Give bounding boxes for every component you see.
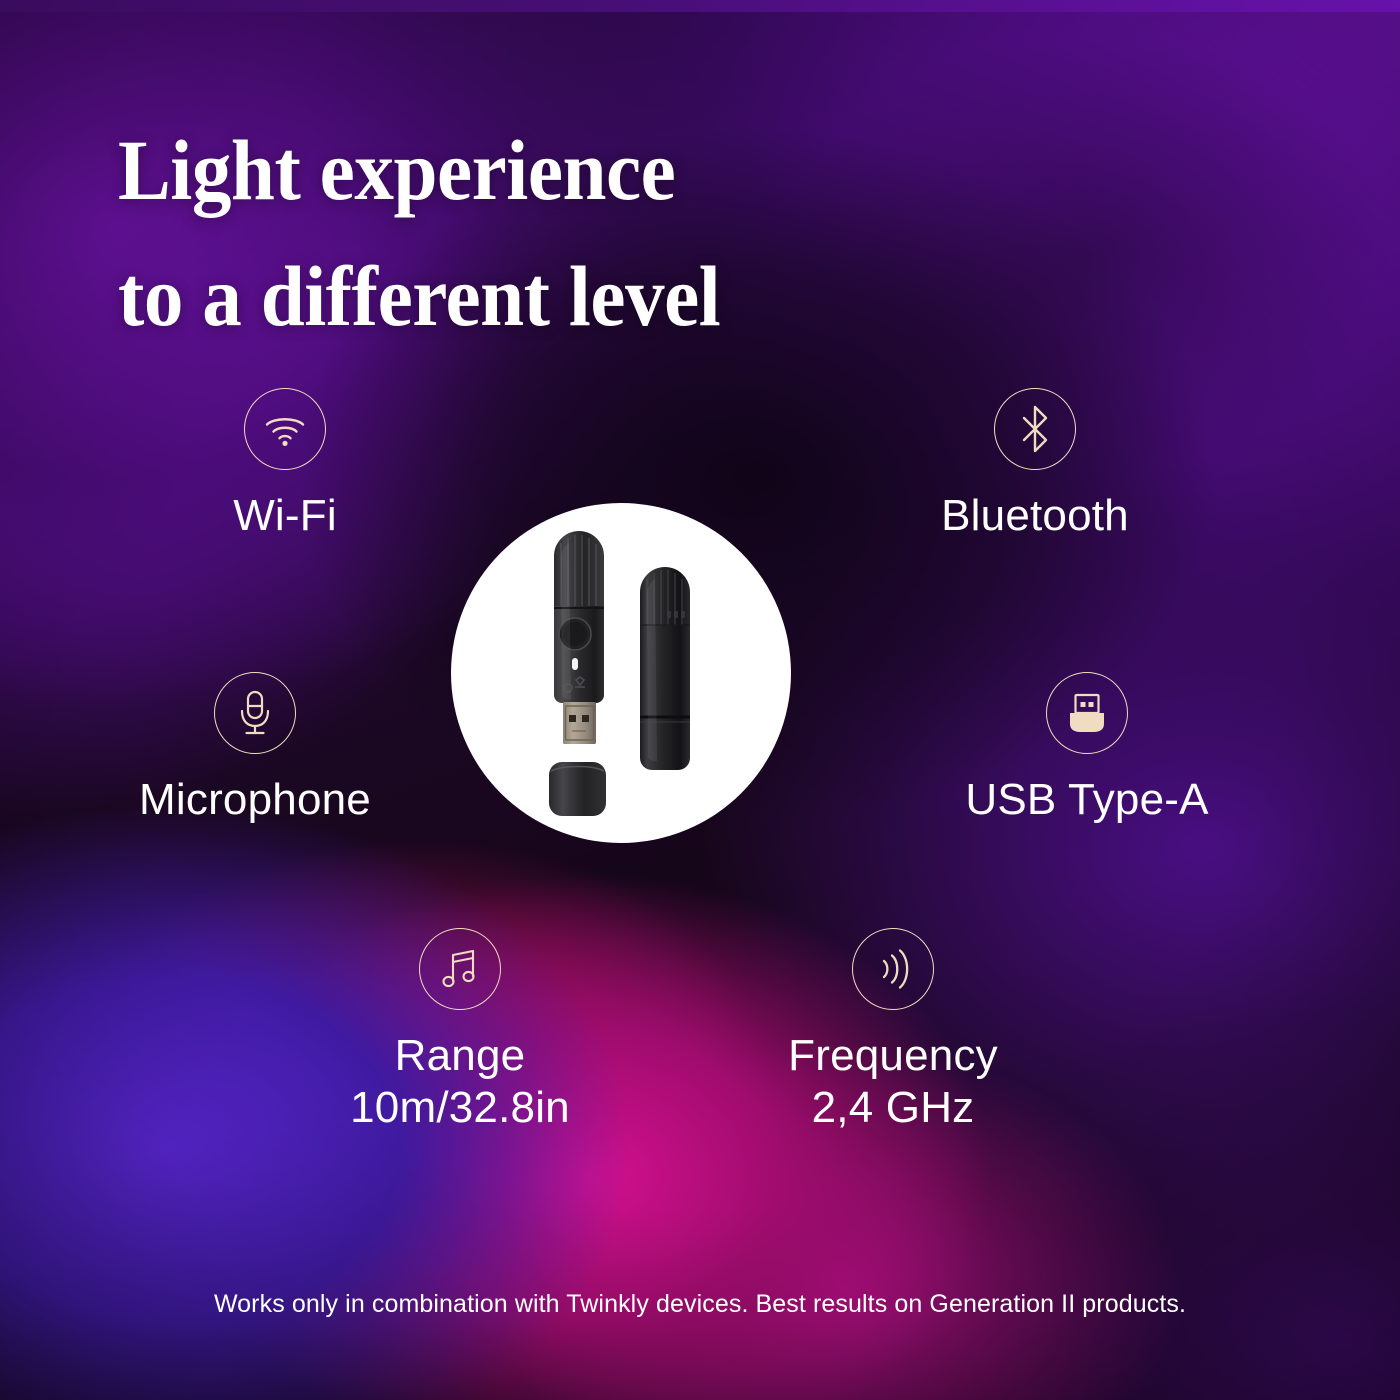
microphone-icon [214,672,296,754]
feature-range-label: Range [395,1030,526,1082]
background-top-band [0,0,1400,12]
product-image-circle [451,503,791,843]
feature-wifi-label: Wi-Fi [233,490,337,542]
signal-waves-icon [852,928,934,1010]
feature-microphone-label: Microphone [139,774,371,826]
footnote-disclaimer: Works only in combination with Twinkly d… [0,1290,1400,1319]
feature-frequency: Frequency 2,4 GHz [748,928,1038,1134]
feature-microphone: Microphone [110,672,400,826]
feature-bluetooth-label: Bluetooth [941,490,1129,542]
feature-range: Range 10m/32.8in [315,928,605,1134]
feature-bluetooth: Bluetooth [890,388,1180,542]
promo-graphic: Light experience to a different level Wi… [0,0,1400,1400]
feature-usb: USB Type-A [942,672,1232,826]
usb-type-a-icon [1046,672,1128,754]
bluetooth-icon [994,388,1076,470]
music-note-icon [419,928,501,1010]
feature-range-value: 10m/32.8in [350,1082,570,1134]
page-title: Light experience to a different level [118,108,1038,359]
feature-frequency-label: Frequency [788,1030,998,1082]
wifi-icon [244,388,326,470]
usb-dongle-photo [451,503,791,843]
feature-frequency-value: 2,4 GHz [812,1082,975,1134]
feature-wifi: Wi-Fi [140,388,430,542]
feature-usb-label: USB Type-A [965,774,1208,826]
